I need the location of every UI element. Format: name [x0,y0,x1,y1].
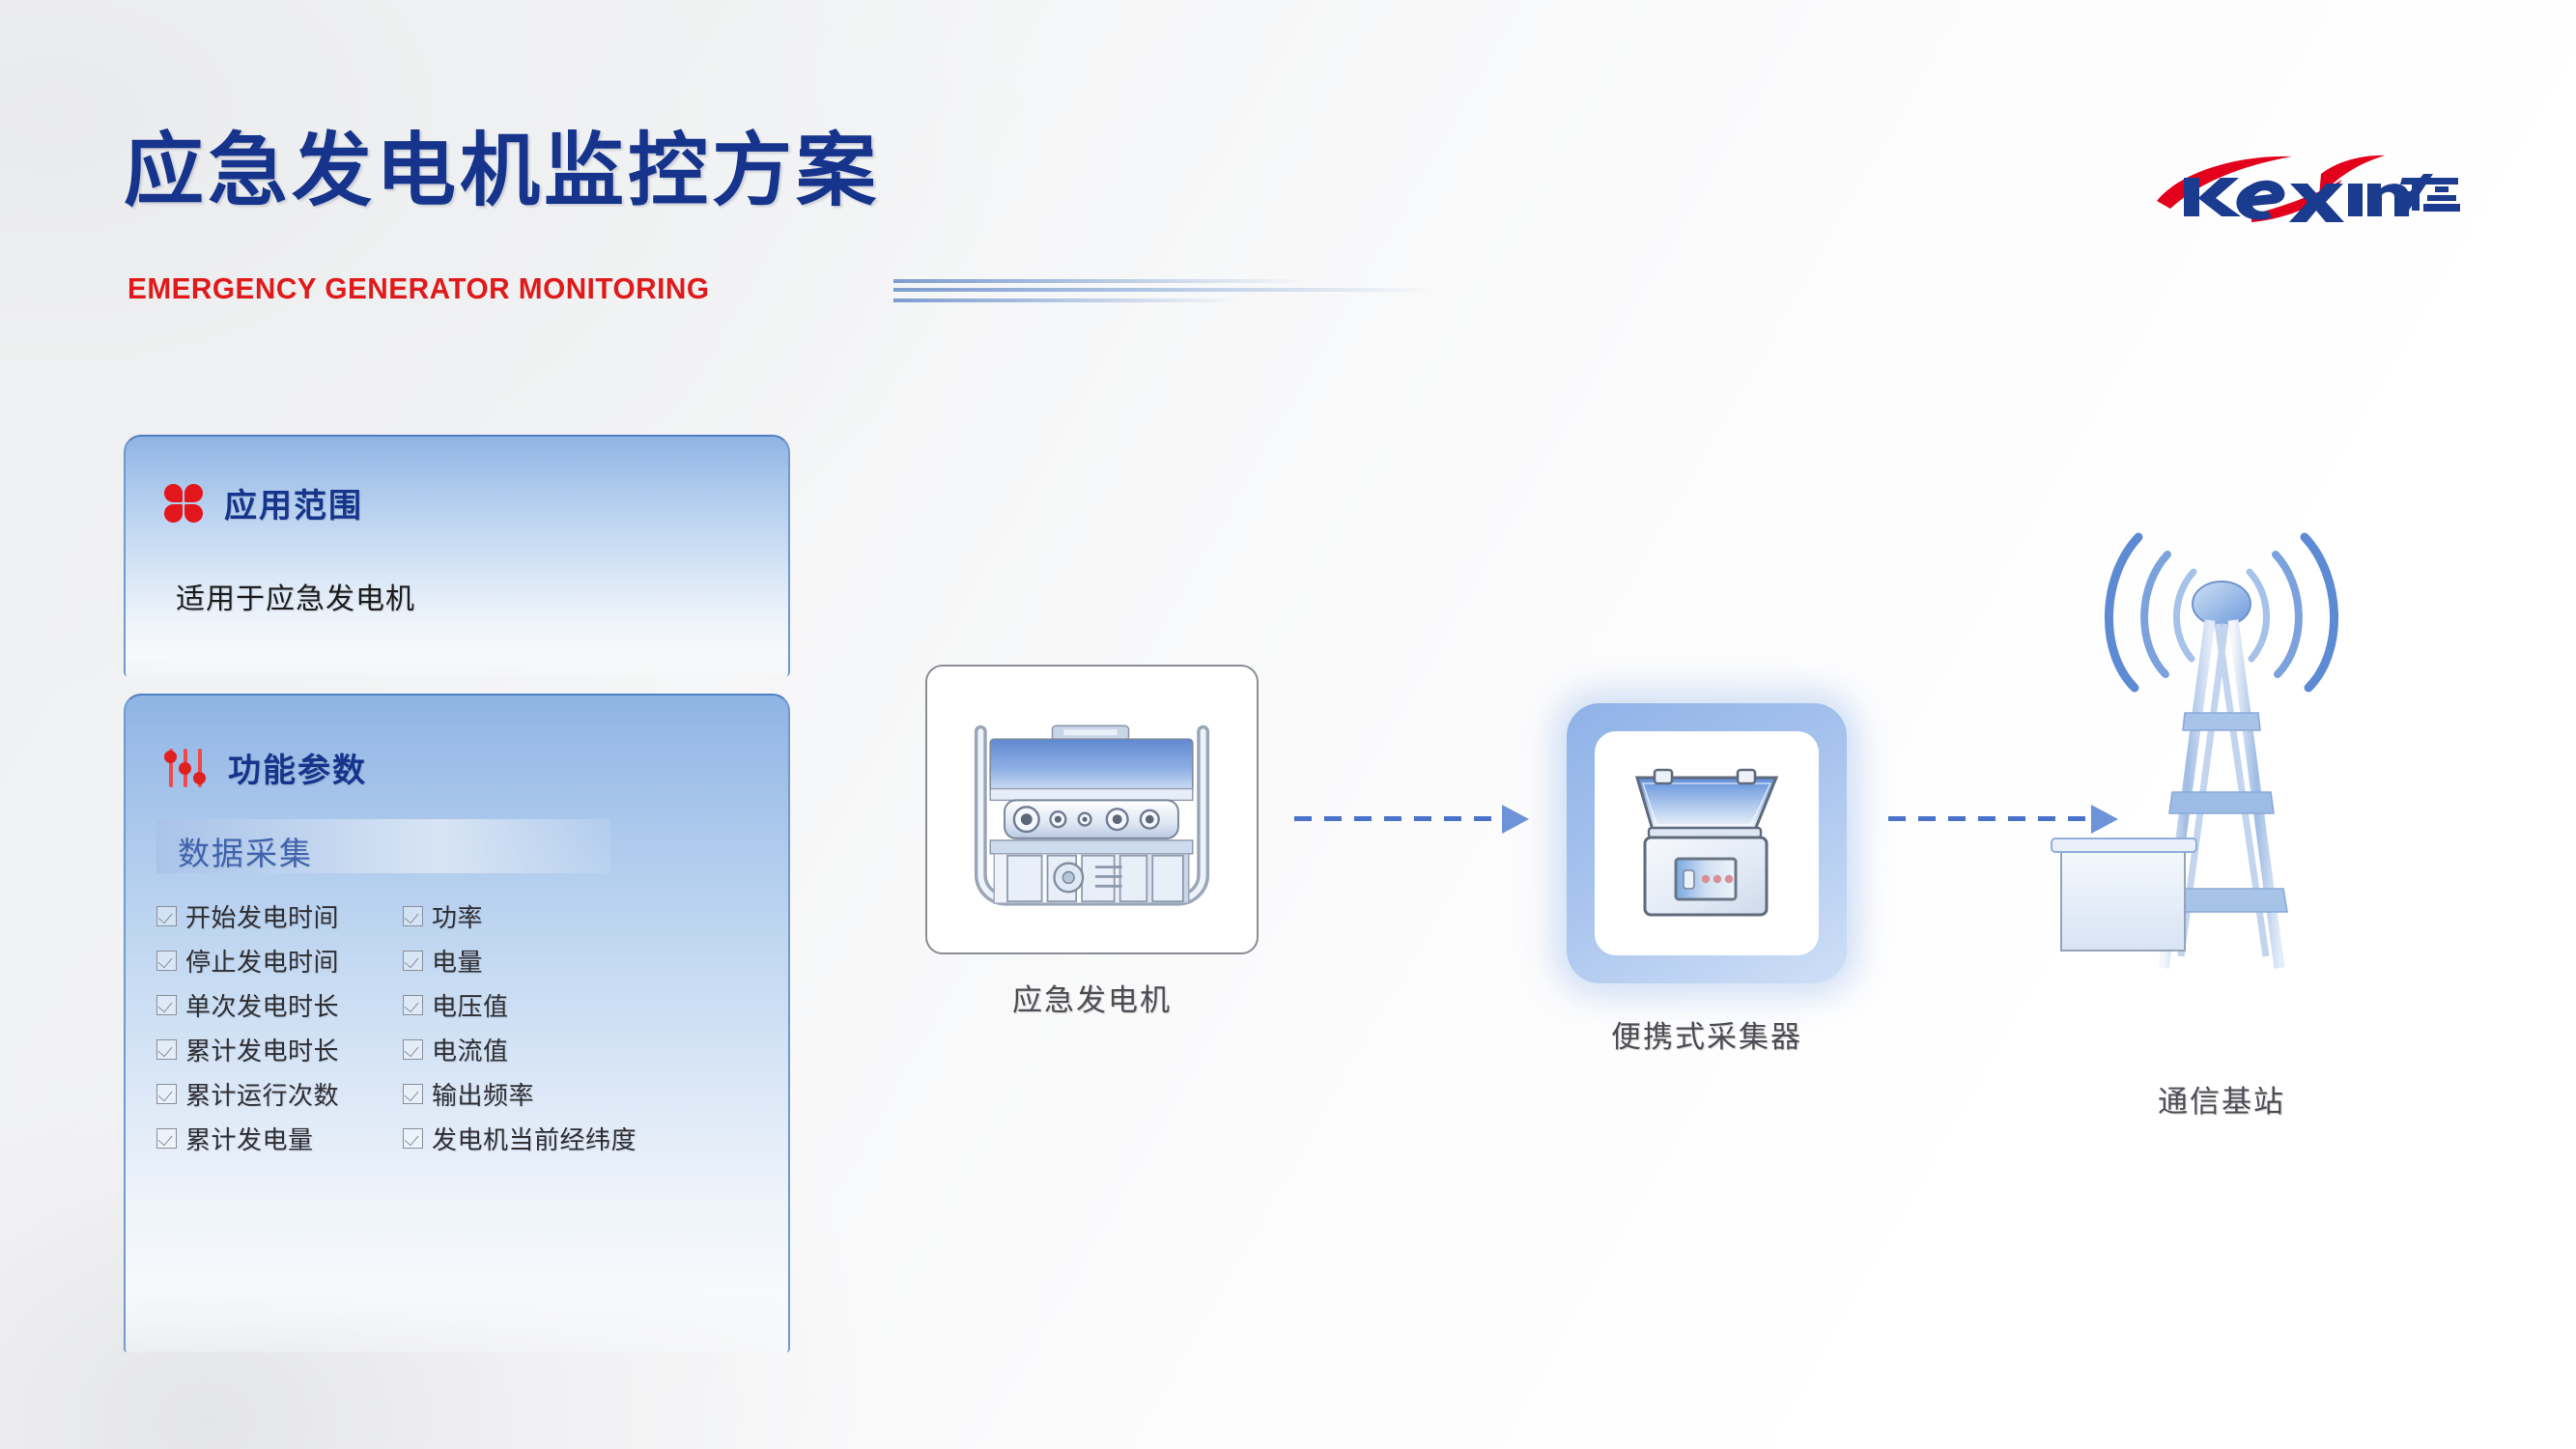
param-item[interactable]: 电量 [403,943,637,979]
param-label: 电量 [432,943,483,979]
param-item[interactable]: 电压值 [403,987,637,1023]
collector-frame [1567,703,1847,983]
checkbox-icon[interactable] [156,1128,177,1149]
card-application-scope: 应用范围 适用于应急发电机 [124,435,790,676]
scope-body-text: 适用于应急发电机 [176,575,415,617]
flow-node-base-station: 通信基站 [2038,502,2405,1043]
flow-node-collector: 便携式采集器 [1567,703,1847,983]
card-header-function: 功能参数 [164,744,367,791]
flower-icon [164,484,203,523]
checkbox-icon[interactable] [156,906,177,926]
portable-collector-icon [1595,731,1819,955]
checkbox-icon[interactable] [156,951,177,971]
section-label-text: 数据采集 [178,828,313,874]
checkbox-icon[interactable] [156,995,177,1015]
param-item[interactable]: 电流值 [403,1032,637,1067]
param-item[interactable]: 累计发电时长 [156,1032,393,1067]
slide-canvas: 应急发电机监控方案 EMERGENCY GENERATOR MONITORING [0,0,2576,1449]
collector-card [1595,731,1819,955]
checkbox-icon[interactable] [403,1084,423,1104]
generator-icon [927,667,1257,953]
flow-node-generator: 应急发电机 [925,665,1259,954]
generator-card [925,665,1259,954]
section-label-data-collection: 数据采集 [156,819,610,873]
param-item[interactable]: 功率 [403,898,637,934]
slider-icon [164,747,207,789]
param-label: 功率 [432,898,483,934]
flow-node-label-collector: 便携式采集器 [1567,1012,1847,1056]
param-label: 累计发电量 [185,1121,314,1156]
param-item[interactable]: 累计运行次数 [156,1076,393,1112]
checkbox-icon[interactable] [403,1128,423,1149]
param-item[interactable]: 输出频率 [403,1076,637,1112]
param-label: 停止发电时间 [185,943,339,979]
param-label: 发电机当前经纬度 [432,1121,637,1156]
param-label: 开始发电时间 [185,898,339,934]
kexin-logo [2149,155,2468,230]
checkbox-icon[interactable] [156,1084,177,1104]
param-label: 累计运行次数 [185,1076,339,1112]
parameter-list: 开始发电时间 功率 停止发电时间 电量 单次发电时长 电压值 [156,898,637,1156]
card-header-scope: 应用范围 [164,479,363,526]
page-title: 应急发电机监控方案 [124,130,880,211]
flow-node-label-generator: 应急发电机 [925,976,1259,1019]
param-label: 电压值 [432,987,509,1023]
param-item[interactable]: 累计发电量 [156,1121,393,1156]
page-subtitle: EMERGENCY GENERATOR MONITORING [127,273,710,303]
card-title-function: 功能参数 [228,744,367,791]
card-function-parameters: 功能参数 数据采集 开始发电时间 功率 停止发电时间 电量 [124,694,790,1352]
param-label: 输出频率 [432,1076,534,1112]
cell-tower-icon [2038,502,2405,1043]
checkbox-icon[interactable] [403,1039,423,1060]
flow-arrow-generator-to-collector [1294,805,1531,834]
param-label: 电流值 [432,1032,509,1067]
checkbox-icon[interactable] [403,995,423,1015]
checkbox-icon[interactable] [403,906,423,926]
title-decor-lines [893,278,1434,303]
param-item[interactable]: 单次发电时长 [156,987,393,1023]
param-item[interactable]: 停止发电时间 [156,943,393,979]
param-item[interactable]: 发电机当前经纬度 [403,1121,637,1156]
param-label: 单次发电时长 [185,987,339,1023]
param-label: 累计发电时长 [185,1032,339,1067]
card-title-scope: 应用范围 [224,479,363,526]
checkbox-icon[interactable] [156,1039,177,1060]
param-item[interactable]: 开始发电时间 [156,898,393,934]
checkbox-icon[interactable] [403,951,423,971]
flow-node-label-base-station: 通信基站 [2038,1077,2405,1121]
